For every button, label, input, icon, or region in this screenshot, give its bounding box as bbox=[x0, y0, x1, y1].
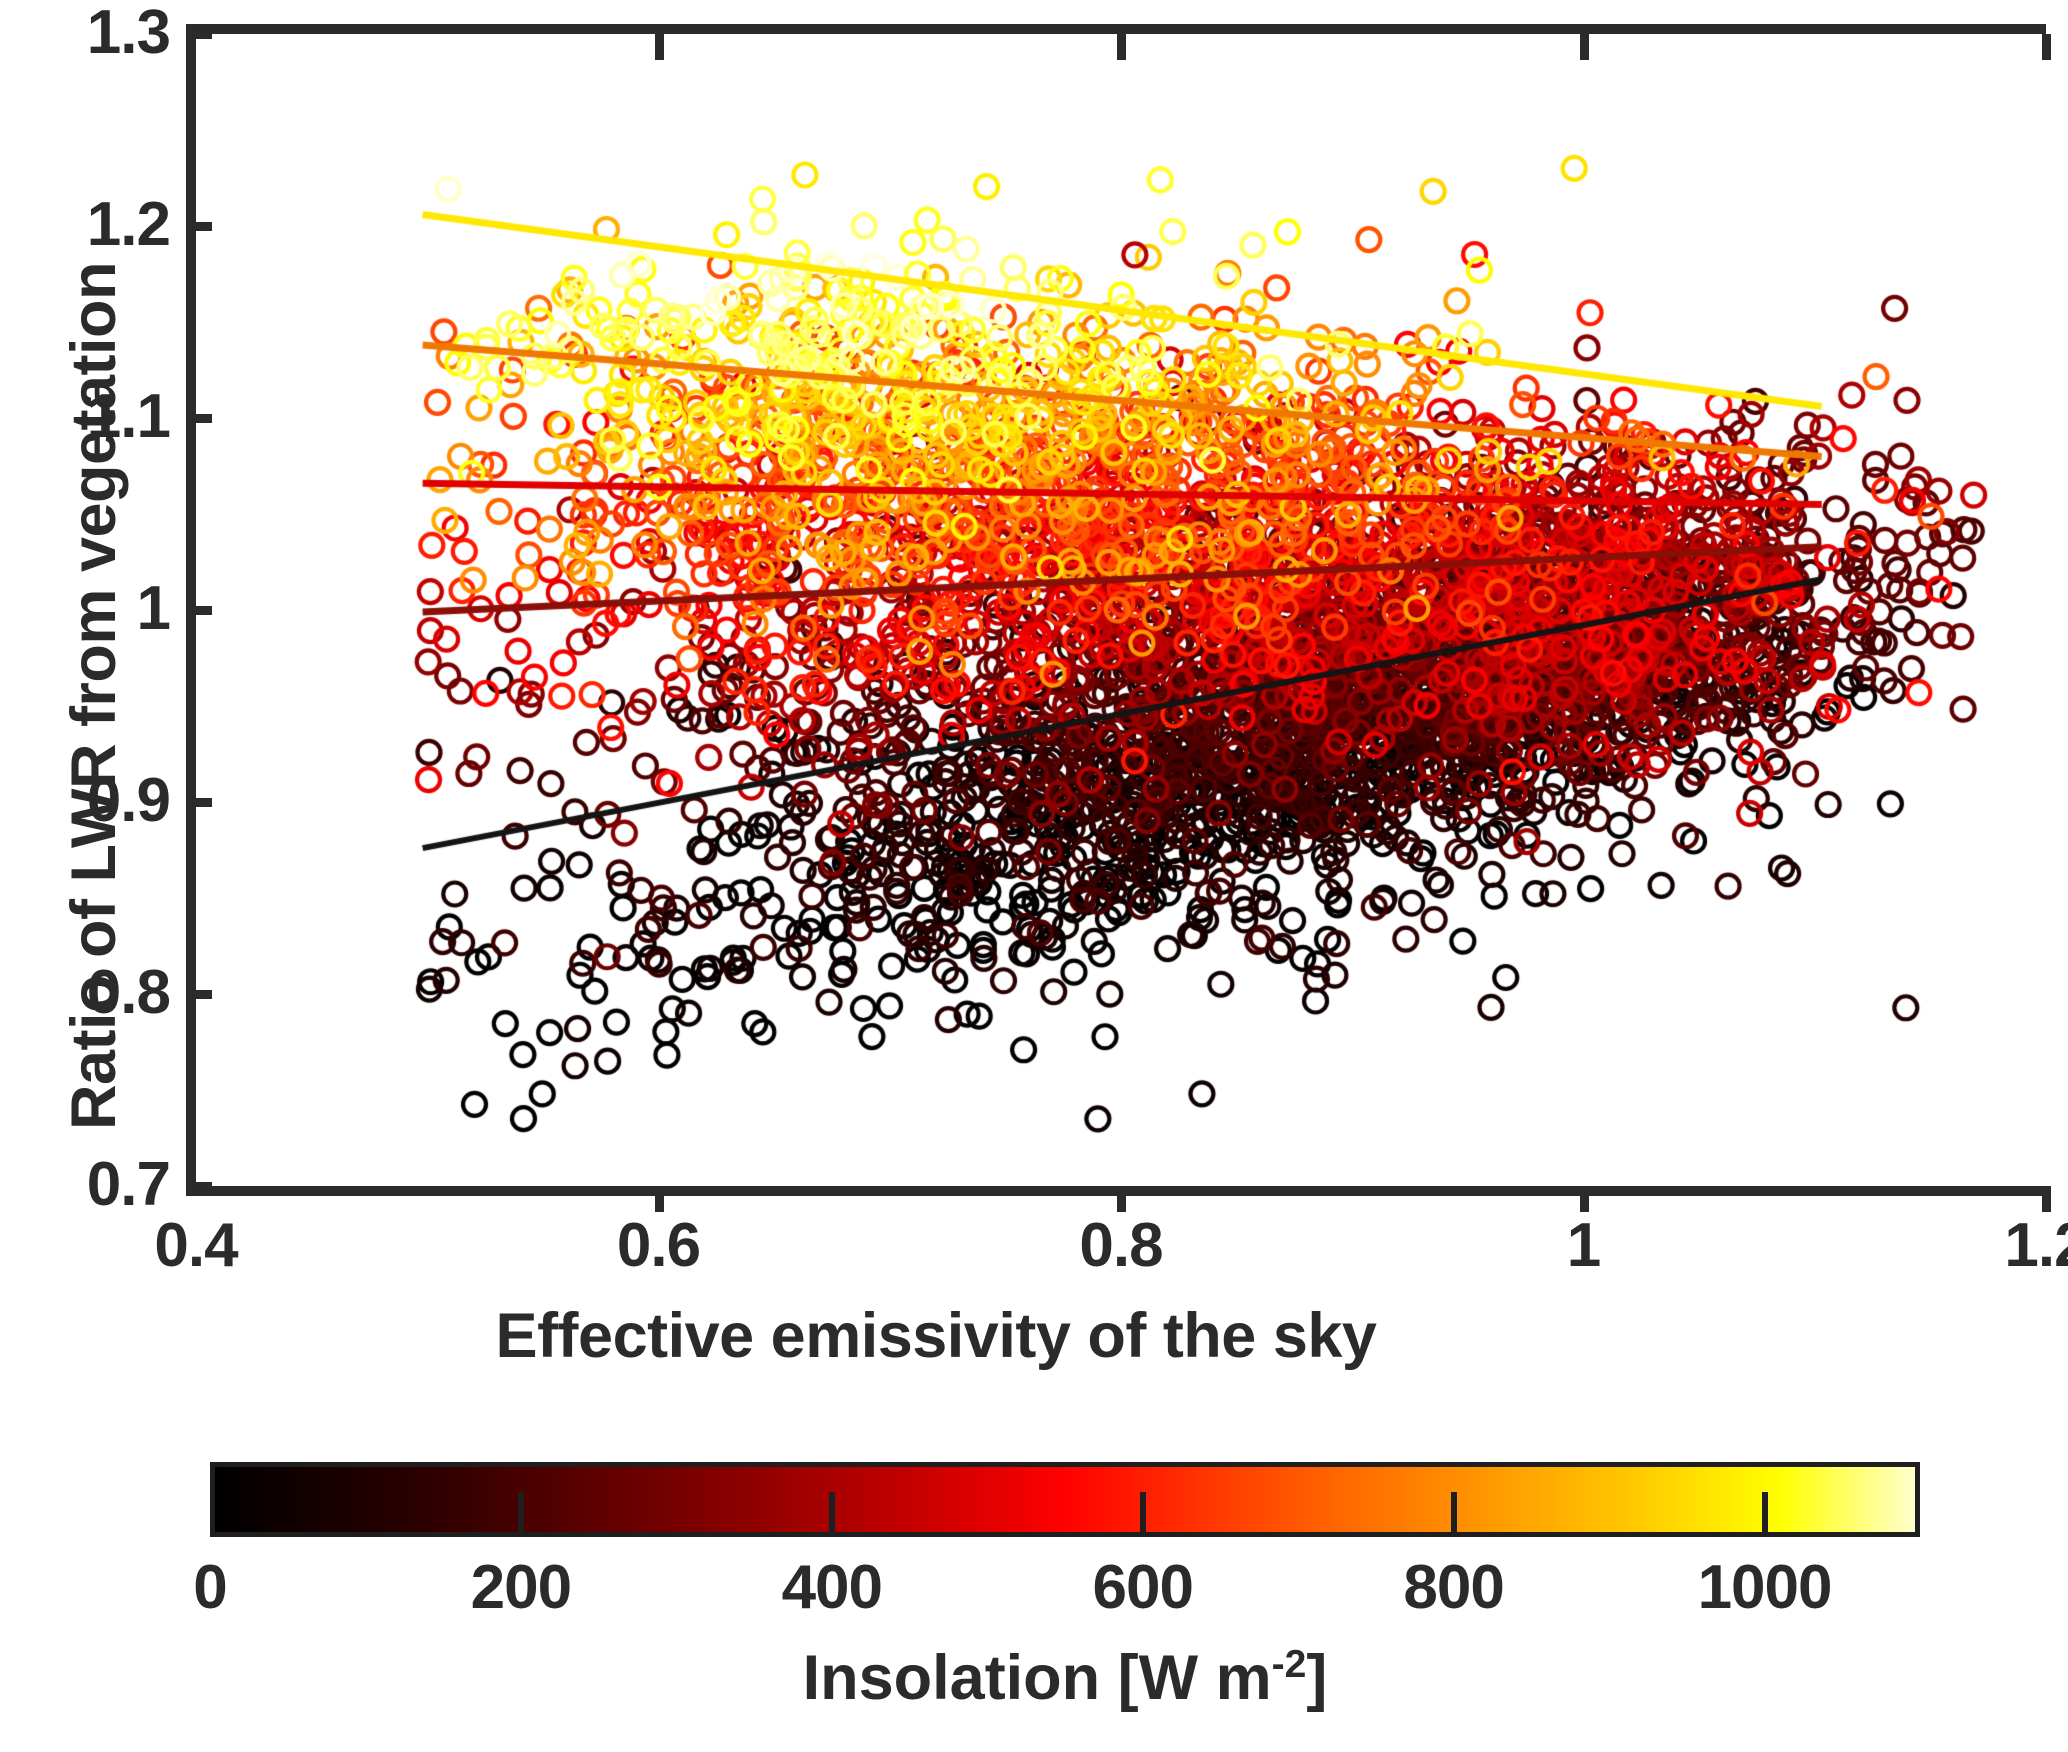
colorbar-tick-mark bbox=[1762, 1492, 1768, 1532]
y-axis-tick-mark bbox=[186, 1182, 212, 1191]
y-axis-tick-labels: 0.70.80.911.11.21.3 bbox=[0, 0, 170, 1752]
y-axis-tick-label: 1 bbox=[0, 578, 170, 640]
y-axis-tick-label: 0.9 bbox=[0, 770, 170, 832]
x-axis-tick-mark bbox=[1117, 1186, 1126, 1212]
colorbar-title: Insolation [W m-2] bbox=[210, 1642, 1920, 1714]
y-axis-tick-mark bbox=[186, 414, 212, 423]
colorbar-tick-label: 200 bbox=[401, 1557, 641, 1619]
x-axis-tick-label: 1 bbox=[1474, 1215, 1694, 1277]
y-axis-tick-label: 0.7 bbox=[0, 1154, 170, 1216]
y-axis-tick-mark bbox=[186, 222, 212, 231]
y-axis-tick-mark bbox=[186, 990, 212, 999]
colorbar-tick-label: 0 bbox=[90, 1557, 330, 1619]
colorbar-tick-mark bbox=[1140, 1492, 1146, 1532]
y-axis-tick-mark bbox=[186, 30, 212, 39]
x-axis-top-tick-mark bbox=[1580, 34, 1589, 60]
y-axis-tick-label: 1.3 bbox=[0, 2, 170, 64]
figure-root: Ratio of LWR from vegetation 0.70.80.911… bbox=[0, 0, 2068, 1752]
x-axis-top-tick-mark bbox=[655, 34, 664, 60]
y-axis-tick-label: 1.1 bbox=[0, 386, 170, 448]
x-axis-top-tick-mark bbox=[2042, 34, 2051, 60]
x-axis-tick-label: 0.8 bbox=[1011, 1215, 1231, 1277]
colorbar-title-tail: ] bbox=[1306, 1643, 1327, 1713]
x-axis-tick-mark bbox=[655, 1186, 664, 1212]
y-axis-tick-label: 1.2 bbox=[0, 194, 170, 256]
colorbar: 02004006008001000 Insolation [W m-2] bbox=[210, 1462, 1920, 1752]
colorbar-tick-mark bbox=[829, 1492, 835, 1532]
y-axis-tick-mark bbox=[186, 798, 212, 807]
colorbar-tick-mark bbox=[518, 1492, 524, 1532]
x-axis-tick-mark bbox=[1580, 1186, 1589, 1212]
x-axis-tick-mark bbox=[2042, 1186, 2051, 1212]
x-axis-top-tick-mark bbox=[1117, 34, 1126, 60]
colorbar-tick-label: 800 bbox=[1334, 1557, 1574, 1619]
x-axis-tick-label: 0.4 bbox=[86, 1215, 306, 1277]
x-axis-tick-label: 0.6 bbox=[549, 1215, 769, 1277]
colorbar-gradient bbox=[210, 1462, 1920, 1537]
colorbar-tick-label: 400 bbox=[712, 1557, 952, 1619]
colorbar-tick-mark bbox=[1451, 1492, 1457, 1532]
x-axis-title: Effective emissivity of the sky bbox=[186, 1300, 1686, 1372]
colorbar-title-exponent: -2 bbox=[1272, 1643, 1307, 1686]
scatter-plot-canvas bbox=[196, 34, 2046, 1186]
x-axis-tick-label: 1.2 bbox=[1936, 1215, 2068, 1277]
colorbar-tick-label: 600 bbox=[1023, 1557, 1263, 1619]
y-axis-tick-label: 0.8 bbox=[0, 962, 170, 1024]
y-axis-tick-mark bbox=[186, 606, 212, 615]
colorbar-title-main: Insolation [W m bbox=[803, 1643, 1272, 1713]
colorbar-tick-label: 1000 bbox=[1645, 1557, 1885, 1619]
